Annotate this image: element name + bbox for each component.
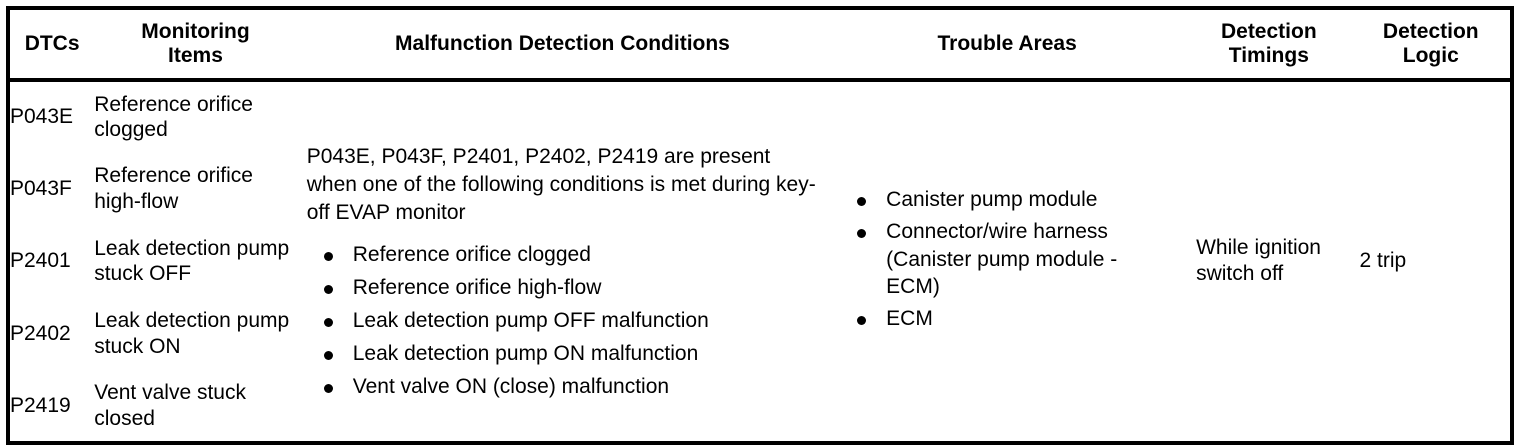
header-detection-timings-label: DetectionTimings [1221, 20, 1317, 67]
dtc-code: P043F [8, 153, 94, 226]
list-item-label: Reference orifice high-flow [353, 276, 602, 299]
header-detection-logic: DetectionLogic [1352, 8, 1512, 80]
list-item-label: Leak detection pump OFF malfunction [353, 309, 709, 332]
trouble-areas-bullet-list: Canister pump module Connector/wire harn… [838, 186, 1174, 334]
list-item: ECM [838, 305, 1174, 333]
detection-timings-value: While ignition switch off [1186, 235, 1351, 288]
list-item: Reference orifice high-flow [307, 274, 816, 302]
dtc-code: P2402 [8, 298, 94, 371]
table-header-row: DTCs MonitoringItems Malfunction Detecti… [8, 8, 1512, 80]
header-trouble-areas-label: Trouble Areas [937, 32, 1076, 55]
bullet-icon [324, 351, 333, 360]
trouble-areas-cell: Canister pump module Connector/wire harn… [828, 80, 1186, 443]
bullet-icon [324, 318, 333, 327]
header-monitoring-items: MonitoringItems [94, 8, 297, 80]
table-row: P043E Reference orifice clogged P043E, P… [8, 80, 1512, 153]
list-item-label: Vent valve ON (close) malfunction [353, 375, 669, 398]
bullet-icon [324, 384, 333, 393]
malfunction-detection-conditions-cell: P043E, P043F, P2401, P2402, P2419 are pr… [297, 80, 828, 443]
detection-logic-cell: 2 trip [1352, 80, 1512, 443]
header-detection-timings: DetectionTimings [1186, 8, 1351, 80]
bullet-icon [324, 252, 333, 261]
header-trouble-areas: Trouble Areas [828, 8, 1186, 80]
bullet-icon [857, 197, 866, 206]
monitoring-item: Vent valve stuck closed [94, 370, 297, 443]
list-item-label: Connector/wire harness (Canister pump mo… [886, 220, 1117, 299]
dtc-code: P2419 [8, 370, 94, 443]
dtc-table-page: DTCs MonitoringItems Malfunction Detecti… [0, 0, 1520, 448]
conditions-bullet-list: Reference orifice clogged Reference orif… [307, 241, 816, 401]
header-malfunction-detection-conditions-label: Malfunction Detection Conditions [395, 32, 730, 55]
header-malfunction-detection-conditions: Malfunction Detection Conditions [297, 8, 828, 80]
list-item: Leak detection pump ON malfunction [307, 340, 816, 368]
dtc-diagnostic-table: DTCs MonitoringItems Malfunction Detecti… [6, 6, 1514, 445]
detection-timings-cell: While ignition switch off [1186, 80, 1351, 443]
detection-logic-value: 2 trip [1352, 248, 1510, 274]
header-dtcs-label: DTCs [25, 32, 80, 55]
monitoring-item: Reference orifice high-flow [94, 153, 297, 226]
header-dtcs: DTCs [8, 8, 94, 80]
dtc-code: P043E [8, 80, 94, 153]
conditions-intro-text: P043E, P043F, P2401, P2402, P2419 are pr… [307, 143, 816, 227]
header-monitoring-items-label: MonitoringItems [141, 20, 249, 67]
header-detection-logic-label: DetectionLogic [1383, 20, 1479, 67]
list-item: Leak detection pump OFF malfunction [307, 307, 816, 335]
list-item-label: ECM [886, 307, 933, 330]
bullet-icon [324, 285, 333, 294]
monitoring-item: Leak detection pump stuck OFF [94, 225, 297, 298]
bullet-icon [857, 229, 866, 238]
list-item-label: Canister pump module [886, 188, 1097, 211]
list-item: Reference orifice clogged [307, 241, 816, 269]
monitoring-item: Reference orifice clogged [94, 80, 297, 153]
list-item: Connector/wire harness (Canister pump mo… [838, 218, 1174, 302]
list-item-label: Leak detection pump ON malfunction [353, 342, 699, 365]
list-item: Canister pump module [838, 186, 1174, 214]
list-item-label: Reference orifice clogged [353, 243, 591, 266]
bullet-icon [857, 316, 866, 325]
dtc-code: P2401 [8, 225, 94, 298]
monitoring-item: Leak detection pump stuck ON [94, 298, 297, 371]
list-item: Vent valve ON (close) malfunction [307, 373, 816, 401]
